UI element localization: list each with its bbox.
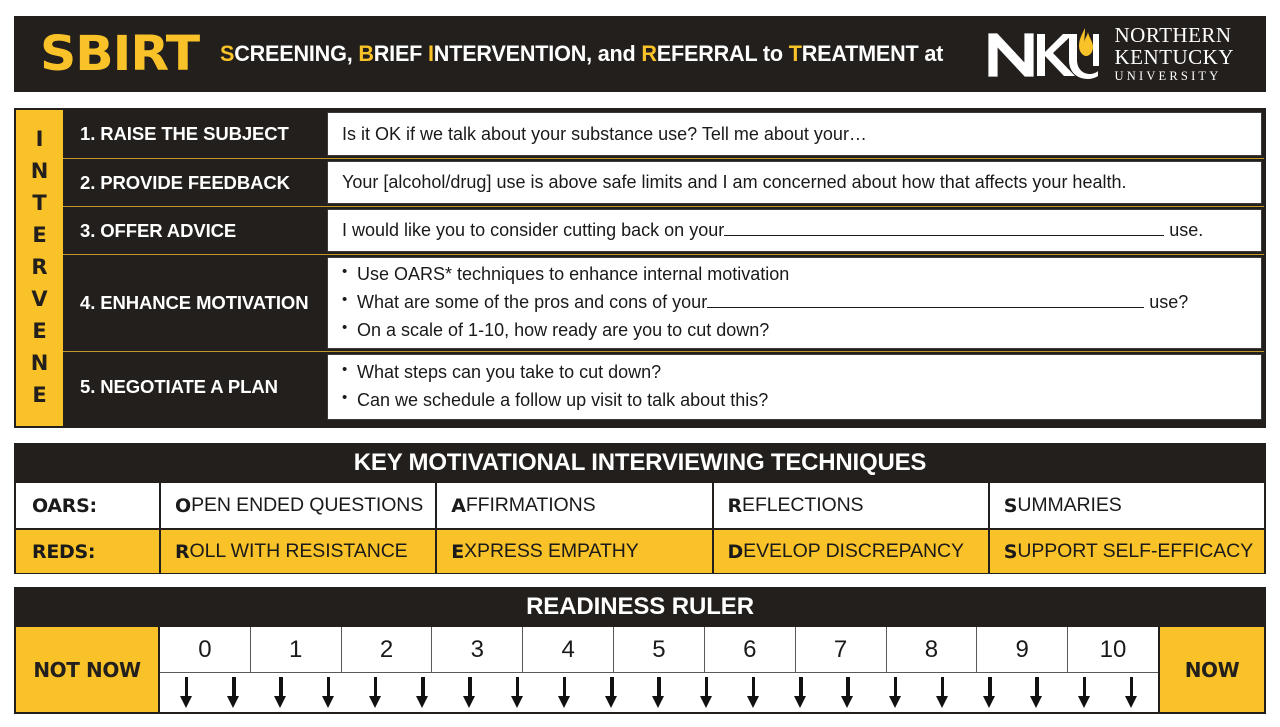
step-bullets-4: Use OARS* techniques to enhance internal… [342, 261, 1247, 345]
down-arrow-icon [652, 677, 665, 709]
reds-rest-4: UPPORT SELF-EFFICACY [1017, 540, 1253, 563]
nku-logo: NORTHERN KENTUCKY UNIVERSITY [985, 25, 1253, 83]
ruler-arrow-row [160, 672, 1158, 712]
oars-rest-4: UMMARIES [1017, 494, 1121, 517]
down-arrow-icon [1078, 677, 1091, 709]
down-arrow-icon [322, 677, 335, 709]
step-content-2: Your [alcohol/drug] use is above safe li… [327, 161, 1262, 204]
ruler-scale: 012345678910 [158, 627, 1160, 712]
spine-letter-7: N [31, 348, 49, 380]
down-arrow-icon [511, 677, 524, 709]
ruler-number-9[interactable]: 9 [977, 627, 1068, 672]
reds-cell-1: ROLL WITH RESISTANCE [161, 530, 437, 573]
spine-letter-3: E [32, 220, 46, 252]
oars-rest-3: EFLECTIONS [742, 494, 863, 517]
ruler-number-4[interactable]: 4 [523, 627, 614, 672]
down-arrow-icon [700, 677, 713, 709]
fill-in-blank-2[interactable] [707, 291, 1144, 308]
header-tagline: SCREENING, BRIEF INTERVENTION, and REFER… [220, 41, 943, 67]
bullet-5-2: Can we schedule a follow up visit to tal… [342, 387, 1247, 415]
readiness-ruler-title: READINESS RULER [16, 589, 1264, 625]
down-arrow-icon [558, 677, 571, 709]
ruler-label-not-now: NOT NOW [16, 627, 158, 712]
down-arrow-icon [841, 677, 854, 709]
tagline-part-5: NTERVENTION, and [433, 41, 641, 66]
nku-line-3: UNIVERSITY [1115, 70, 1235, 83]
mi-techniques-title: KEY MOTIVATIONAL INTERVIEWING TECHNIQUES [16, 445, 1264, 481]
spine-letter-8: E [32, 380, 46, 412]
tagline-part-0: S [220, 41, 234, 66]
step-label-3: 3. OFFER ADVICE [63, 207, 325, 254]
oars-cap-4: S [1004, 495, 1018, 517]
ruler-number-7[interactable]: 7 [796, 627, 887, 672]
down-arrow-icon [1030, 677, 1043, 709]
sbirt-reference-card: SBIRT SCREENING, BRIEF INTERVENTION, and… [0, 0, 1280, 727]
reds-cell-2: EXPRESS EMPATHY [437, 530, 713, 573]
reds-cap-1: R [175, 541, 190, 563]
step-text-1: Is it OK if we talk about your substance… [342, 121, 1247, 147]
step-text-3-after: use. [1169, 220, 1203, 240]
down-arrow-icon [463, 677, 476, 709]
bullet-4-2: What are some of the pros and cons of yo… [342, 289, 1247, 317]
spine-letter-4: R [31, 252, 47, 284]
down-arrow-icon [605, 677, 618, 709]
ruler-number-8[interactable]: 8 [887, 627, 978, 672]
down-arrow-icon [747, 677, 760, 709]
spine-letter-0: I [36, 124, 44, 156]
reds-rest-1: OLL WITH RESISTANCE [190, 540, 408, 563]
oars-cap-1: O [175, 495, 191, 517]
down-arrow-icon [794, 677, 807, 709]
intervene-row-4: 4. ENHANCE MOTIVATION Use OARS* techniqu… [63, 254, 1264, 351]
step-label-5: 5. NEGOTIATE A PLAN [63, 352, 325, 422]
mi-techniques-section: KEY MOTIVATIONAL INTERVIEWING TECHNIQUES… [14, 443, 1266, 574]
bullet-4-1: Use OARS* techniques to enhance internal… [342, 261, 1247, 289]
ruler-label-now: NOW [1160, 627, 1264, 712]
reds-cap-2: E [451, 541, 464, 563]
mi-techniques-table: OARS: OPEN ENDED QUESTIONS AFFIRMATIONS … [16, 481, 1264, 573]
oars-rest-1: PEN ENDED QUESTIONS [191, 494, 423, 517]
ruler-number-row: 012345678910 [160, 627, 1158, 672]
reds-cell-4: SUPPORT SELF-EFFICACY [990, 530, 1264, 573]
ruler-number-1[interactable]: 1 [251, 627, 342, 672]
spine-letter-5: V [31, 284, 47, 316]
tagline-part-9: REATMENT at [801, 41, 942, 66]
oars-cap-2: A [451, 495, 466, 517]
bullet-4-2-before: What are some of the pros and cons of yo… [357, 292, 707, 312]
ruler-number-6[interactable]: 6 [705, 627, 796, 672]
down-arrow-icon [936, 677, 949, 709]
down-arrow-icon [274, 677, 287, 709]
down-arrow-icon [983, 677, 996, 709]
nku-line-2: KENTUCKY [1115, 47, 1235, 68]
oars-cell-3: REFLECTIONS [714, 483, 990, 528]
table-row-reds: REDS: ROLL WITH RESISTANCE EXPRESS EMPAT… [16, 528, 1264, 573]
intervene-row-2: 2. PROVIDE FEEDBACK Your [alcohol/drug] … [63, 158, 1264, 206]
down-arrow-icon [416, 677, 429, 709]
ruler-number-3[interactable]: 3 [432, 627, 523, 672]
down-arrow-icon [227, 677, 240, 709]
oars-cell-2: AFFIRMATIONS [437, 483, 713, 528]
step-text-2: Your [alcohol/drug] use is above safe li… [342, 169, 1247, 195]
step-text-3: I would like you to consider cutting bac… [342, 217, 1247, 243]
nku-monogram-icon [985, 26, 1101, 82]
down-arrow-icon [180, 677, 193, 709]
reds-rest-2: XPRESS EMPATHY [464, 540, 639, 563]
step-label-2: 2. PROVIDE FEEDBACK [63, 159, 325, 206]
step-label-1: 1. RAISE THE SUBJECT [63, 110, 325, 158]
step-content-4: Use OARS* techniques to enhance internal… [327, 257, 1262, 349]
bullet-4-3: On a scale of 1-10, how ready are you to… [342, 317, 1247, 345]
reds-cap-3: D [728, 541, 744, 563]
tagline-part-2: B [358, 41, 373, 66]
spine-letter-6: E [32, 316, 46, 348]
readiness-ruler-body: NOT NOW 012345678910 NOW [16, 625, 1264, 712]
oars-cell-1: OPEN ENDED QUESTIONS [161, 483, 437, 528]
ruler-number-2[interactable]: 2 [342, 627, 433, 672]
oars-rest-2: FFIRMATIONS [466, 494, 596, 517]
reds-cell-3: DEVELOP DISCREPANCY [714, 530, 990, 573]
ruler-number-10[interactable]: 10 [1068, 627, 1158, 672]
nku-line-1: NORTHERN [1115, 25, 1235, 46]
intervene-spine-label: INTERVENE [16, 110, 63, 426]
spine-letter-2: T [32, 188, 46, 220]
ruler-number-5[interactable]: 5 [614, 627, 705, 672]
readiness-ruler-section: READINESS RULER NOT NOW 012345678910 NOW [14, 587, 1266, 714]
oars-cell-4: SUMMARIES [990, 483, 1264, 528]
intervene-rows: 1. RAISE THE SUBJECT Is it OK if we talk… [63, 110, 1264, 426]
tagline-part-4: I [428, 41, 434, 66]
header-banner: SBIRT SCREENING, BRIEF INTERVENTION, and… [14, 16, 1266, 92]
tagline-part-7: EFERRAL to [656, 41, 788, 66]
intervene-row-5: 5. NEGOTIATE A PLAN What steps can you t… [63, 351, 1264, 422]
bullet-4-2-after: use? [1149, 292, 1188, 312]
step-bullets-5: What steps can you take to cut down? Can… [342, 359, 1247, 415]
intervene-row-3: 3. OFFER ADVICE I would like you to cons… [63, 206, 1264, 254]
tagline-part-6: R [641, 41, 656, 66]
brand-title: SBIRT [40, 30, 199, 78]
oars-cap-3: R [728, 495, 743, 517]
tagline-part-3: RIEF [373, 41, 427, 66]
table-row-oars: OARS: OPEN ENDED QUESTIONS AFFIRMATIONS … [16, 483, 1264, 528]
down-arrow-icon [369, 677, 382, 709]
bullet-5-1: What steps can you take to cut down? [342, 359, 1247, 387]
tagline-part-8: T [788, 41, 801, 66]
oars-key-label: OARS: [16, 483, 161, 528]
reds-cap-4: S [1004, 541, 1018, 563]
fill-in-blank-1[interactable] [724, 219, 1164, 236]
step-content-3: I would like you to consider cutting bac… [327, 209, 1262, 252]
down-arrow-icon [889, 677, 902, 709]
ruler-number-0[interactable]: 0 [160, 627, 251, 672]
down-arrow-icon [1125, 677, 1138, 709]
spine-letter-1: N [31, 156, 49, 188]
intervene-row-1: 1. RAISE THE SUBJECT Is it OK if we talk… [63, 110, 1264, 158]
step-label-4: 4. ENHANCE MOTIVATION [63, 255, 325, 351]
step-content-5: What steps can you take to cut down? Can… [327, 354, 1262, 420]
nku-wordmark: NORTHERN KENTUCKY UNIVERSITY [1115, 25, 1235, 83]
step-text-3-before: I would like you to consider cutting bac… [342, 220, 724, 240]
reds-rest-3: EVELOP DISCREPANCY [743, 540, 964, 563]
step-content-1: Is it OK if we talk about your substance… [327, 112, 1262, 156]
intervene-section: INTERVENE 1. RAISE THE SUBJECT Is it OK … [14, 108, 1266, 428]
tagline-part-1: CREENING, [234, 41, 358, 66]
reds-key-label: REDS: [16, 530, 161, 573]
